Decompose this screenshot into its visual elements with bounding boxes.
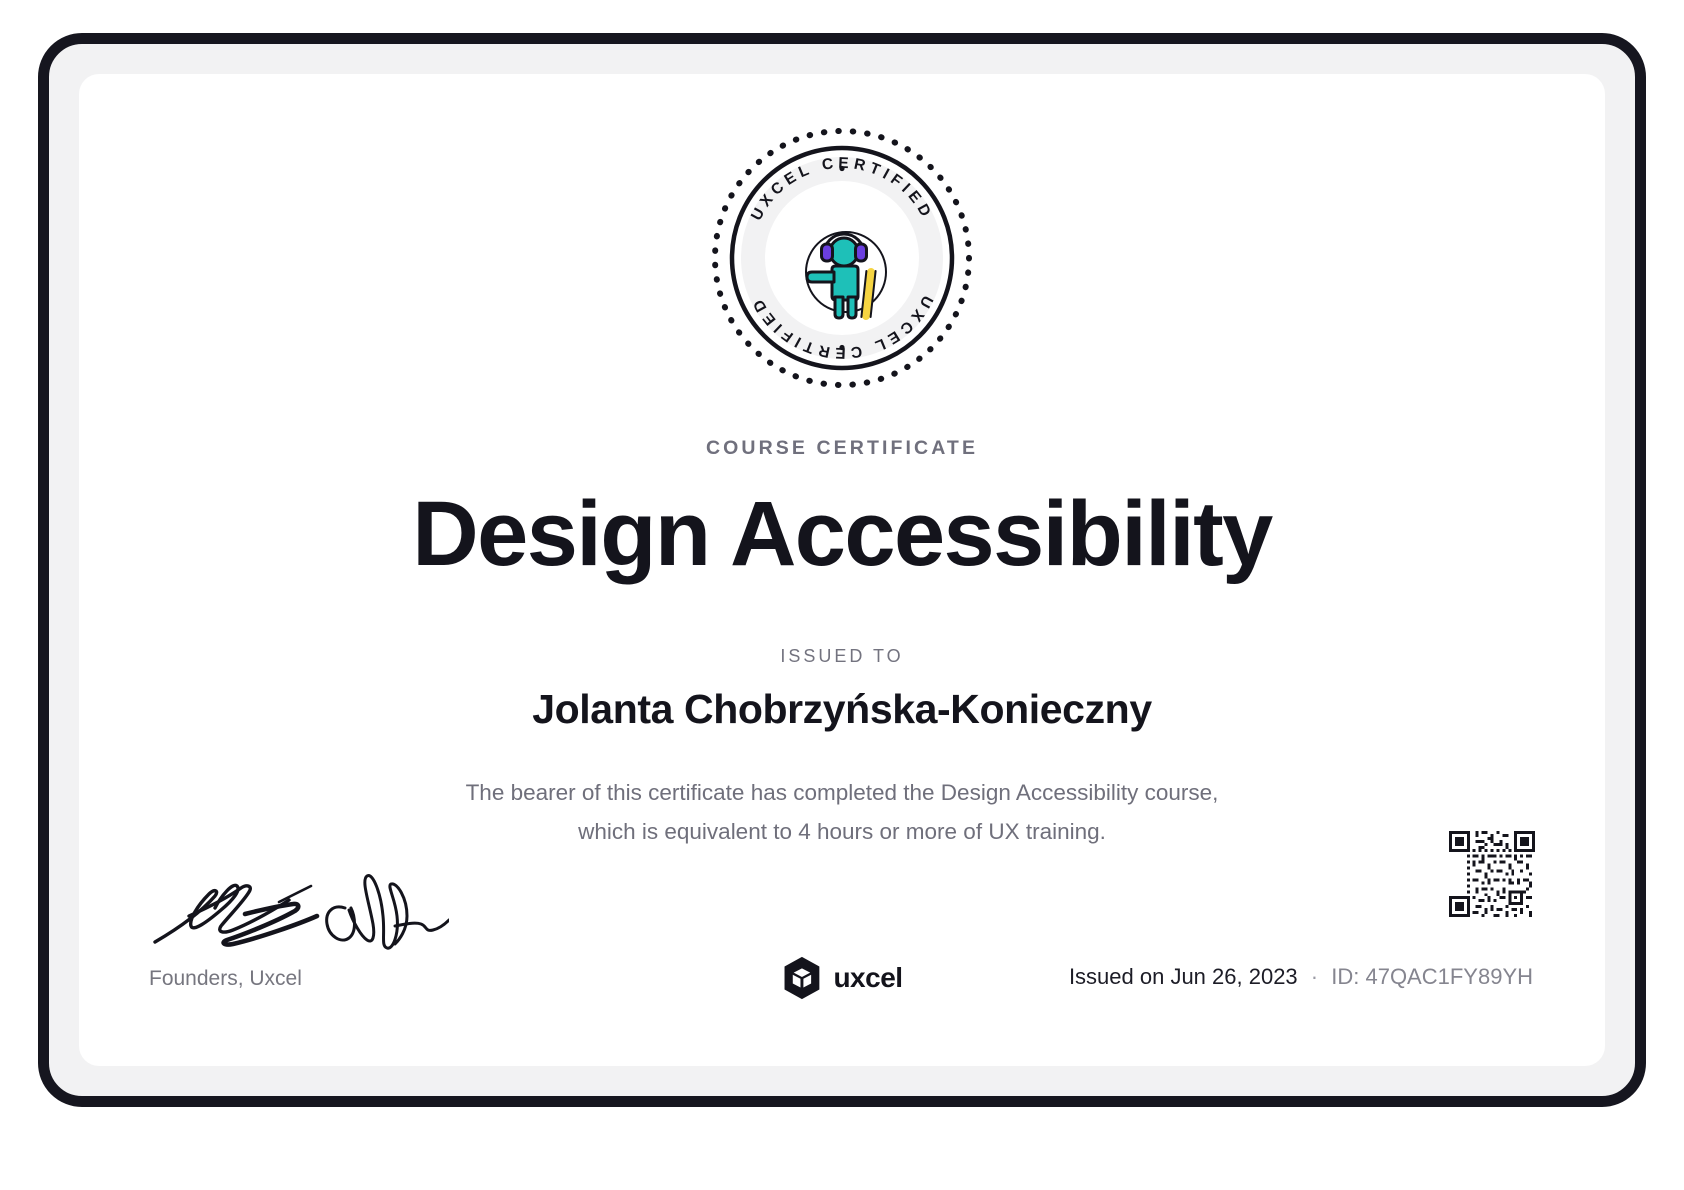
issued-on-date: Issued on Jun 26, 2023 xyxy=(1069,964,1298,989)
badge-separator-dot-bottom xyxy=(839,345,844,350)
certificate-page: UXCEL CERTIFIED UXCEL CERTIFIED xyxy=(0,0,1684,1190)
description-line-1: The bearer of this certificate has compl… xyxy=(392,774,1292,813)
recipient-name: Jolanta Chobrzyńska-Konieczny xyxy=(79,686,1605,733)
uxcel-certified-badge: UXCEL CERTIFIED UXCEL CERTIFIED xyxy=(708,124,976,392)
badge-separator-dot-top xyxy=(839,166,844,171)
founders-signatures xyxy=(149,864,469,950)
description-line-2: which is equivalent to 4 hours or more o… xyxy=(392,813,1292,852)
founders-label: Founders, Uxcel xyxy=(149,967,302,991)
certificate-card: UXCEL CERTIFIED UXCEL CERTIFIED xyxy=(79,74,1605,1066)
course-certificate-eyebrow: COURSE CERTIFICATE xyxy=(79,437,1605,460)
uxcel-cube-icon xyxy=(781,956,822,1000)
issued-to-label: ISSUED TO xyxy=(79,646,1605,667)
certificate-id: ID: 47QAC1FY89YH xyxy=(1331,964,1533,989)
uxcel-wordmark: uxcel xyxy=(833,962,902,994)
verification-qr-code[interactable] xyxy=(1449,831,1535,917)
certificate-description: The bearer of this certificate has compl… xyxy=(392,774,1292,851)
course-title: Design Accessibility xyxy=(79,486,1605,584)
certificate-frame: UXCEL CERTIFIED UXCEL CERTIFIED xyxy=(38,33,1646,1107)
issue-metadata: Issued on Jun 26, 2023 · ID: 47QAC1FY89Y… xyxy=(1069,964,1533,990)
meta-separator: · xyxy=(1304,964,1325,989)
uxcel-brand-logo: uxcel xyxy=(781,956,902,1000)
